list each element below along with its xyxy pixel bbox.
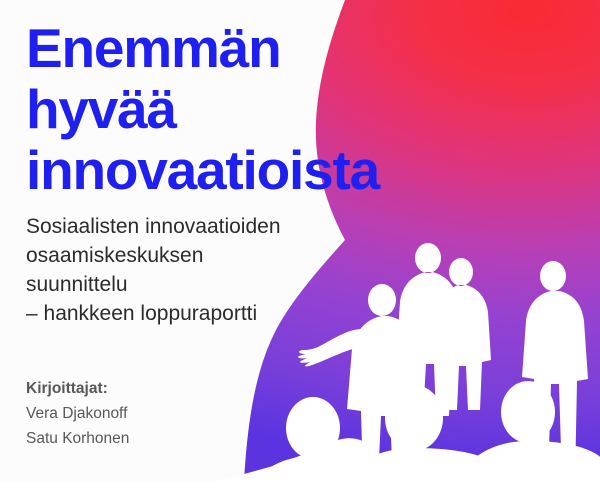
silhouette-foreground-left-head	[286, 397, 340, 459]
subtitle-line-4: – hankkeen loppuraportti	[26, 299, 356, 328]
silhouette-foreground-right-torso	[448, 441, 600, 482]
authors-label: Kirjoittajat:	[26, 376, 286, 401]
subtitle-line-2: osaamiskeskuksen	[26, 241, 356, 270]
silhouette-foreground-right-head	[501, 381, 555, 443]
authors-block: Kirjoittajat: Vera Djakonoff Satu Korhon…	[26, 376, 286, 451]
page-title: Enemmän hyvää innovaatioista	[26, 18, 496, 201]
author-name-1: Vera Djakonoff	[26, 401, 286, 426]
title-line-1: Enemmän	[26, 18, 496, 79]
title-line-3: innovaatioista	[26, 140, 496, 201]
report-cover: Enemmän hyvää innovaatioista Sosiaaliste…	[0, 0, 600, 482]
silhouette-foreground-center-head	[385, 385, 443, 451]
title-line-2: hyvää	[26, 79, 496, 140]
subtitle-line-3: suunnittelu	[26, 270, 356, 299]
page-subtitle: Sosiaalisten innovaatioiden osaamiskesku…	[26, 212, 356, 328]
author-name-2: Satu Korhonen	[26, 426, 286, 451]
subtitle-line-1: Sosiaalisten innovaatioiden	[26, 212, 356, 241]
